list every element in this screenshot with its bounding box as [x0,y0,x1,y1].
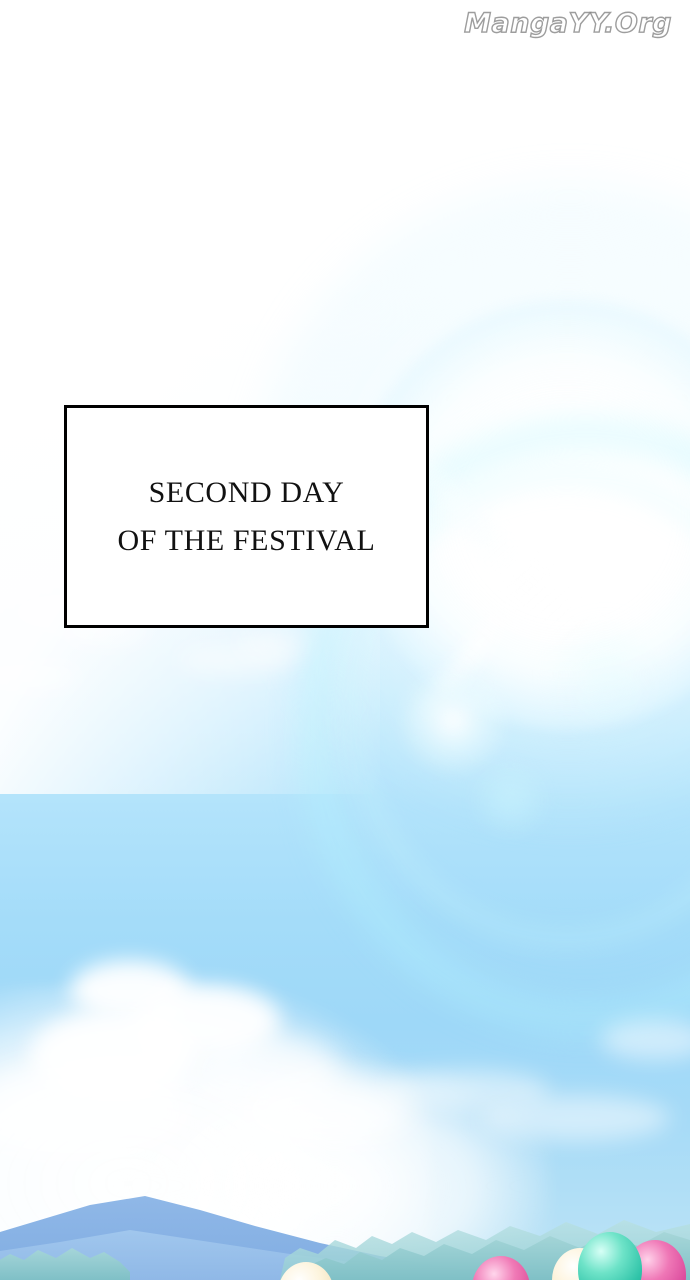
site-watermark: MangaYY.Org [464,8,672,39]
caption-line-1: SECOND DAY [149,469,345,517]
caption-line-2: OF THE FESTIVAL [118,517,376,565]
caption-box: SECOND DAY OF THE FESTIVAL [64,405,429,628]
lens-flare-ghost-b [545,615,665,735]
lens-flare-starburst [398,665,508,775]
cloud-wisp-center-b [238,630,308,658]
comic-panel: SECOND DAY OF THE FESTIVAL MangaYY.Org [0,0,690,1280]
cloud-wisp-right-b [480,1095,670,1141]
lens-flare-ghost-a [470,760,550,840]
